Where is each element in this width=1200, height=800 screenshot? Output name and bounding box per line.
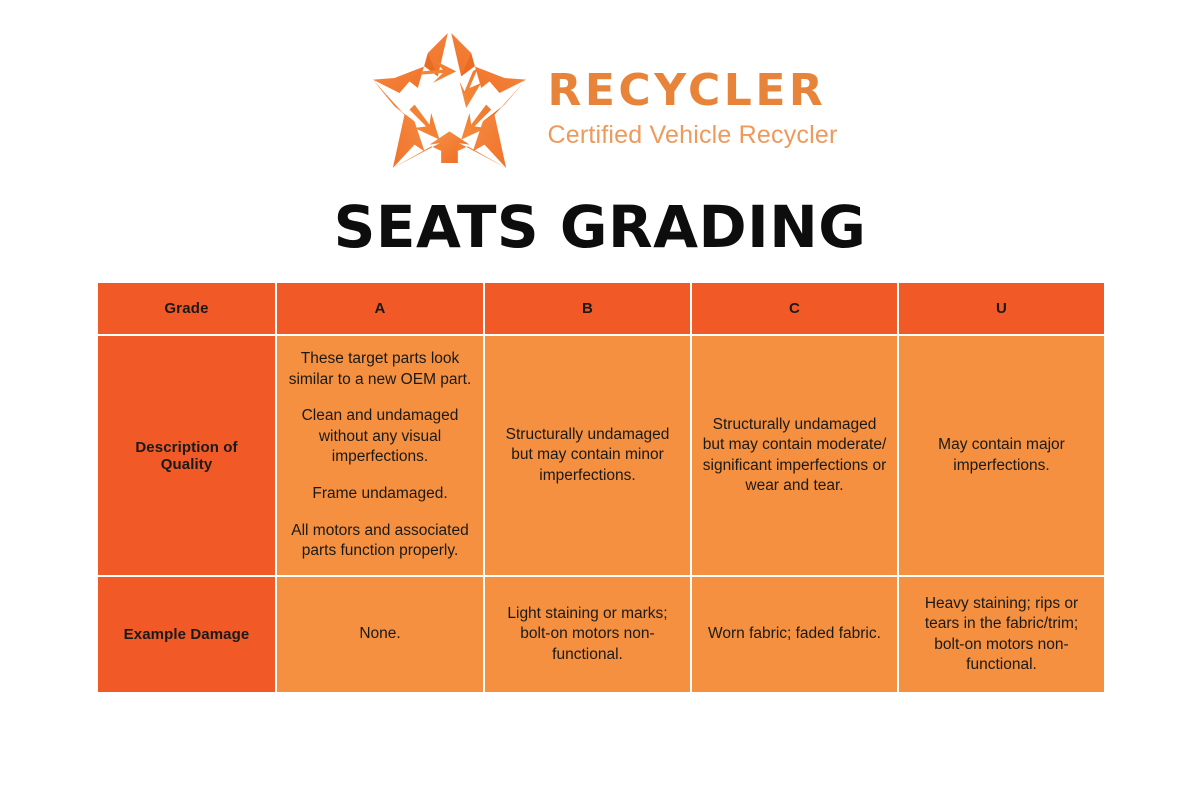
table-header-row: Grade A B C U	[97, 282, 1105, 335]
recycling-star-icon	[362, 28, 537, 178]
header-cell-b: B	[484, 282, 691, 335]
brand-logo-text: RECYCLER Certified Vehicle Recycler	[547, 57, 837, 150]
table-row: Description of Quality These target part…	[97, 335, 1105, 576]
brand-name: RECYCLER	[547, 69, 837, 113]
row-label-description-of-quality: Description of Quality	[97, 335, 276, 576]
cell-paragraph: All motors and associated parts function…	[287, 521, 473, 562]
cell-paragraph: May contain major imperfections.	[909, 435, 1094, 476]
cell-paragraph: Structurally undamaged but may contain m…	[702, 415, 887, 497]
brand-logo: RECYCLER Certified Vehicle Recycler	[0, 28, 1200, 178]
cell-paragraph: Light staining or marks; bolt-on motors …	[495, 604, 680, 665]
page-title: SEATS GRADING	[0, 196, 1200, 260]
row-label-example-damage: Example Damage	[97, 576, 276, 693]
cell-paragraph: Worn fabric; faded fabric.	[702, 624, 887, 644]
table-header: Grade A B C U	[97, 282, 1105, 335]
cell-description-u: May contain major imperfections.	[898, 335, 1105, 576]
cell-example-b: Light staining or marks; bolt-on motors …	[484, 576, 691, 693]
brand-tagline: Certified Vehicle Recycler	[547, 122, 837, 150]
cell-paragraph: Heavy staining; rips or tears in the fab…	[909, 594, 1094, 676]
cell-paragraph: Frame undamaged.	[287, 484, 473, 504]
cell-description-a: These target parts look similar to a new…	[276, 335, 484, 576]
header-cell-a: A	[276, 282, 484, 335]
table-body: Description of Quality These target part…	[97, 335, 1105, 693]
cell-example-u: Heavy staining; rips or tears in the fab…	[898, 576, 1105, 693]
seats-grading-table: Grade A B C U Description of Quality The…	[96, 281, 1106, 694]
brand-logo-inner: RECYCLER Certified Vehicle Recycler	[362, 28, 837, 178]
cell-description-c: Structurally undamaged but may contain m…	[691, 335, 898, 576]
cell-paragraph: None.	[287, 624, 473, 644]
cell-description-b: Structurally undamaged but may contain m…	[484, 335, 691, 576]
cell-example-a: None.	[276, 576, 484, 693]
header-cell-c: C	[691, 282, 898, 335]
cell-paragraph: Structurally undamaged but may contain m…	[495, 425, 680, 486]
cell-paragraph: These target parts look similar to a new…	[287, 349, 473, 390]
cell-example-c: Worn fabric; faded fabric.	[691, 576, 898, 693]
header-cell-grade: Grade	[97, 282, 276, 335]
cell-paragraph: Clean and undamaged without any visual i…	[287, 406, 473, 467]
table-row: Example Damage None. Light staining or m…	[97, 576, 1105, 693]
header-cell-u: U	[898, 282, 1105, 335]
